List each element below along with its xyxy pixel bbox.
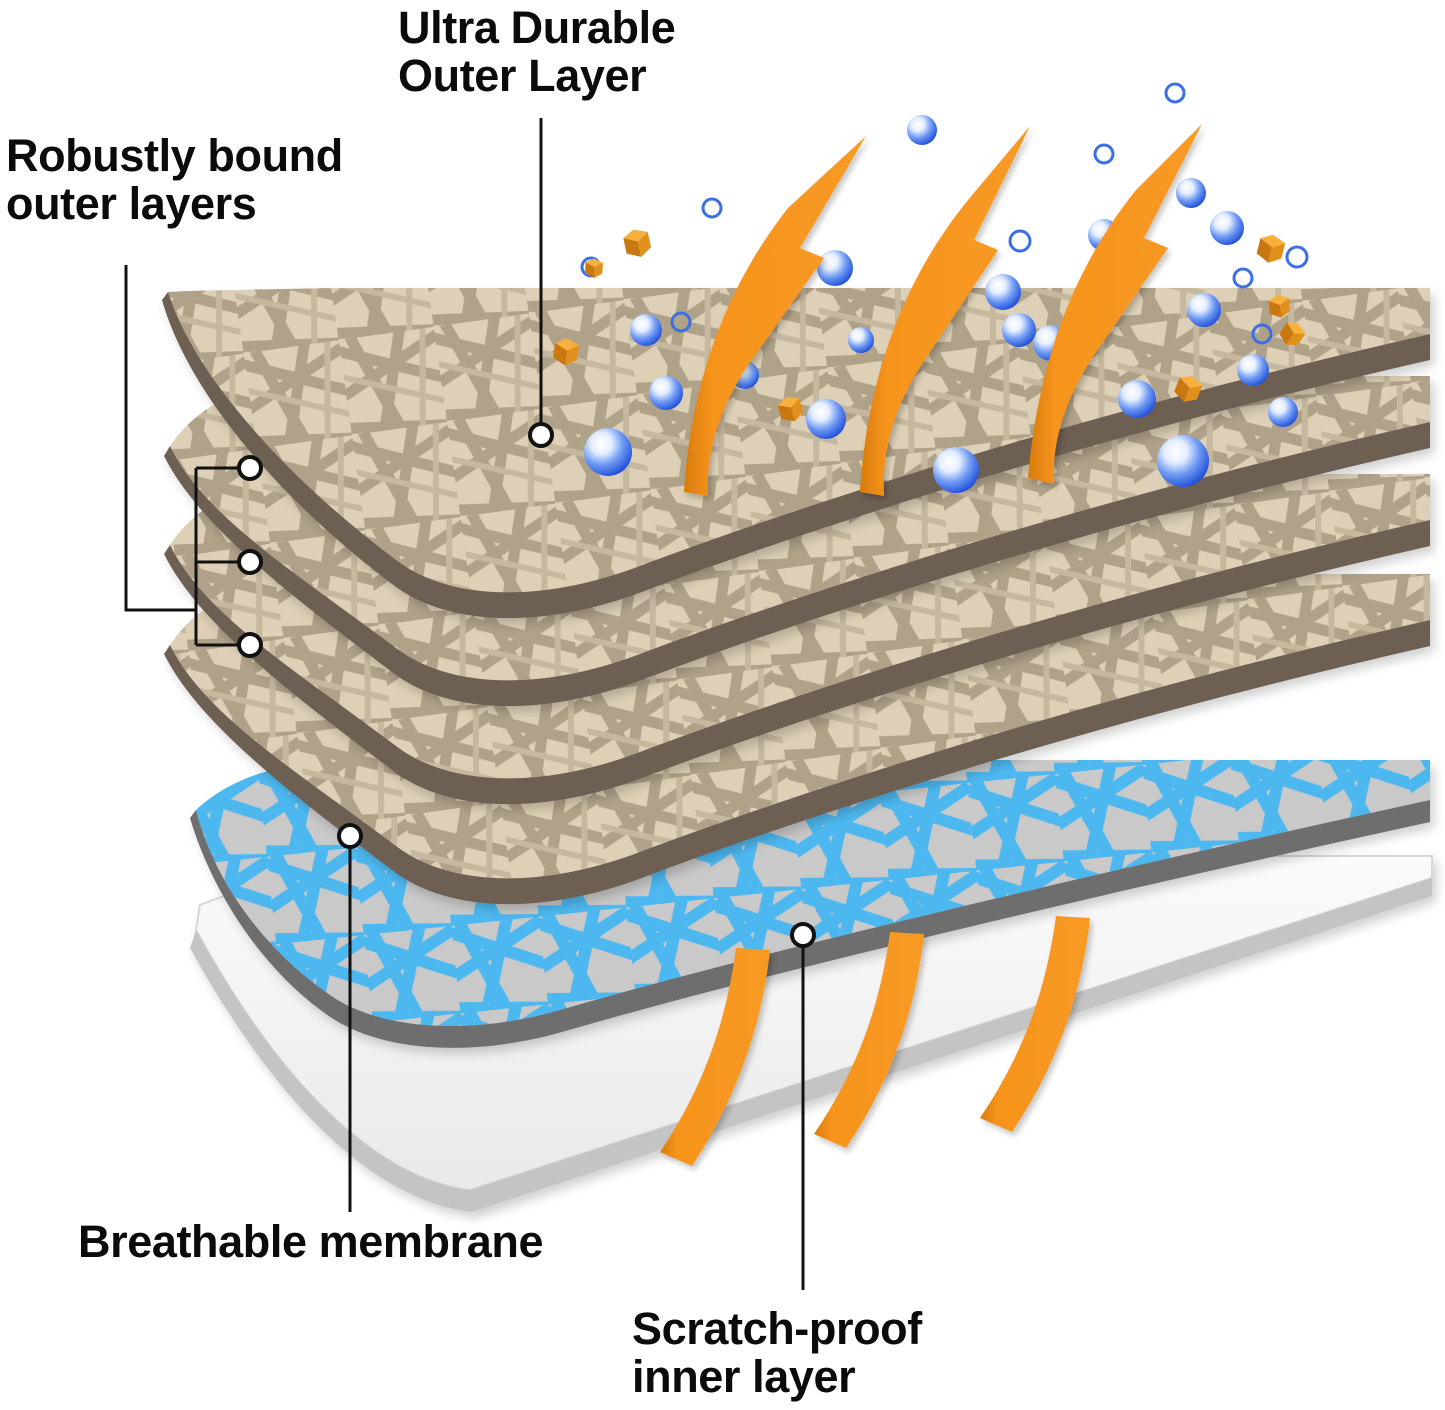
callout-dot-bound-3 — [239, 634, 261, 656]
callout-dot-outer-layer — [530, 424, 552, 446]
robustly-bound-outer-layers-label: Robustly bound outer layers — [6, 132, 343, 227]
breathable-membrane-label: Breathable membrane — [78, 1218, 543, 1266]
callout-dot-scratch — [792, 924, 814, 946]
diagram-canvas: Ultra Durable Outer Layer Robustly bound… — [0, 0, 1445, 1410]
callout-dot-bound-2 — [239, 551, 261, 573]
callout-dot-membrane — [339, 825, 361, 847]
callout-dot-bound-1 — [239, 457, 261, 479]
ultra-durable-outer-layer-label: Ultra Durable Outer Layer — [398, 4, 675, 99]
scratch-proof-inner-layer-label: Scratch-proof inner layer — [632, 1305, 922, 1400]
